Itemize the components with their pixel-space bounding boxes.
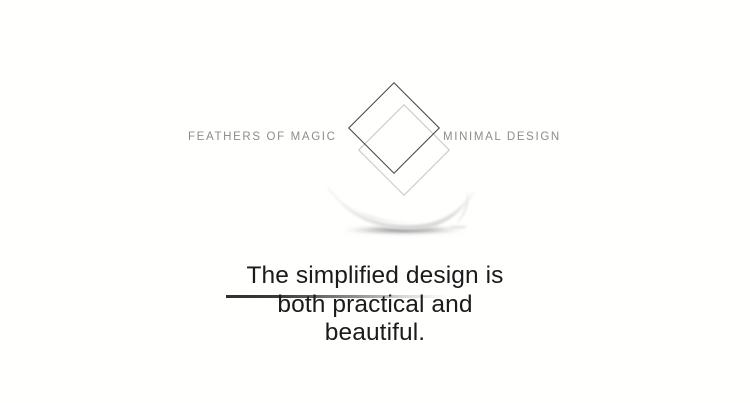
diamond-front-shape — [349, 83, 440, 174]
feather-illustration — [318, 170, 488, 245]
page-title: The simplified design is both practical … — [0, 262, 750, 348]
slide-canvas: FEATHERS OF MAGIC MINIMAL DESIGN — [0, 0, 750, 403]
headline-line-1: The simplified design is — [0, 262, 750, 291]
headline-line-2: both practical and — [0, 291, 750, 320]
headline-line-3: beautiful. — [0, 319, 750, 348]
feather-wisp — [449, 226, 467, 228]
headline-block: The simplified design is both practical … — [0, 262, 750, 348]
brand-label-left: FEATHERS OF MAGIC — [188, 120, 337, 154]
